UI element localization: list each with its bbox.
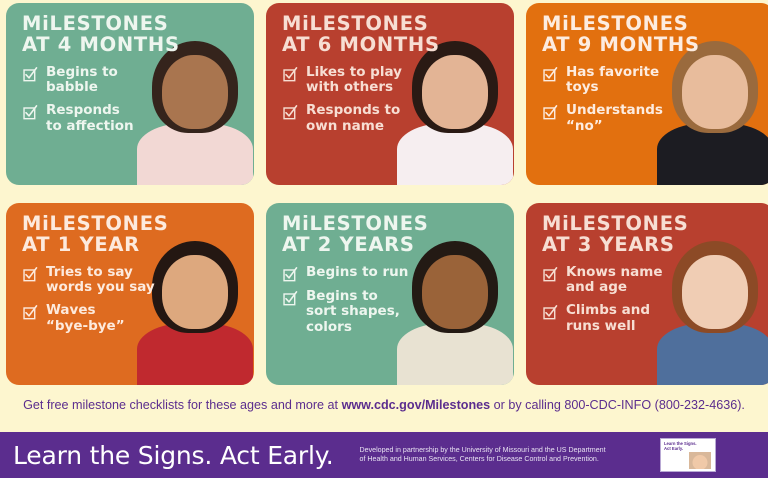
checkbox-checked-icon [543,267,558,282]
milestone-text: Begins to babble [46,65,118,96]
banner-slogan: Learn the Signs. Act Early. [13,441,334,470]
learn-the-signs-banner: Learn the Signs. Act Early. Developed in… [0,432,768,478]
card-title-dotted-i: i [42,12,49,35]
milestone-list-6-months: Likes to play with othersResponds to own… [266,56,514,135]
milestone-item: Responds to own name [283,103,514,134]
milestone-card-grid: MiLESTONESAT 4 MONTHSBegins to babbleRes… [0,3,768,391]
milestone-list-1-year: Tries to say words you sayWaves “bye-bye… [6,256,254,335]
card-title-age-line: AT 1 YEAR [22,233,140,256]
checkbox-checked-icon [543,305,558,320]
card-title-age-line: AT 3 YEARS [542,233,675,256]
card-title-suffix: LESTONES [570,12,689,35]
milestone-item: Begins to run [283,265,514,282]
card-title-prefix: M [22,212,42,235]
milestone-item: Tries to say words you say [23,265,254,296]
card-title-suffix: LESTONES [310,212,429,235]
card-title-dotted-i: i [302,212,309,235]
card-title-dotted-i: i [562,12,569,35]
card-title-dotted-i: i [42,212,49,235]
footer-text-after: or by calling 800-CDC-INFO (800-232-4636… [490,398,745,412]
milestone-item: Knows name and age [543,265,768,296]
cdc-milestones-link[interactable]: www.cdc.gov/Milestones [342,398,491,412]
milestone-text: Knows name and age [566,265,663,296]
card-title-2-years: MiLESTONESAT 2 YEARS [266,203,514,256]
card-title-suffix: LESTONES [310,12,429,35]
milestone-text: Climbs and runs well [566,303,650,334]
checkbox-checked-icon [543,67,558,82]
milestone-text: Tries to say words you say [46,265,155,296]
footer-text-before: Get free milestone checklists for these … [23,398,342,412]
milestone-card-2-years: MiLESTONESAT 2 YEARSBegins to runBegins … [266,203,514,385]
milestone-item: Likes to play with others [283,65,514,96]
milestone-text: Waves “bye-bye” [46,303,125,334]
milestone-card-3-years: MiLESTONESAT 3 YEARSKnows name and ageCl… [526,203,768,385]
card-title-age-line: AT 2 YEARS [282,233,415,256]
milestone-text: Responds to affection [46,103,134,134]
milestone-item: Begins to babble [23,65,254,96]
checkbox-checked-icon [283,291,298,306]
card-title-suffix: LESTONES [570,212,689,235]
card-title-3-years: MiLESTONESAT 3 YEARS [526,203,768,256]
milestone-card-6-months: MiLESTONESAT 6 MONTHSLikes to play with … [266,3,514,185]
card-title-prefix: M [282,12,302,35]
card-title-prefix: M [542,12,562,35]
milestone-text: Has favorite toys [566,65,659,96]
checkbox-checked-icon [283,105,298,120]
card-title-dotted-i: i [302,12,309,35]
milestone-list-4-months: Begins to babbleResponds to affection [6,56,254,135]
card-title-age-line: AT 4 MONTHS [22,33,180,56]
checkbox-checked-icon [23,67,38,82]
program-logo-photo [689,452,711,469]
card-title-prefix: M [542,212,562,235]
cdc-milestones-poster: MiLESTONESAT 4 MONTHSBegins to babbleRes… [0,0,768,478]
milestone-text: Understands “no” [566,103,663,134]
card-title-9-months: MiLESTONESAT 9 MONTHS [526,3,768,56]
milestone-text: Likes to play with others [306,65,402,96]
checkbox-checked-icon [23,105,38,120]
milestone-list-2-years: Begins to runBegins to sort shapes, colo… [266,256,514,336]
card-title-age-line: AT 9 MONTHS [542,33,700,56]
checkbox-checked-icon [543,105,558,120]
milestone-card-9-months: MiLESTONESAT 9 MONTHSHas favorite toysUn… [526,3,768,185]
card-title-prefix: M [22,12,42,35]
milestone-text: Begins to run [306,265,408,281]
milestone-item: Begins to sort shapes, colors [283,289,514,336]
card-title-1-year: MiLESTONESAT 1 YEAR [6,203,254,256]
milestone-item: Understands “no” [543,103,768,134]
milestone-item: Climbs and runs well [543,303,768,334]
card-title-suffix: LESTONES [50,212,169,235]
program-logo: Learn the Signs. Act Early. [660,438,716,472]
checkbox-checked-icon [283,267,298,282]
milestone-card-4-months: MiLESTONESAT 4 MONTHSBegins to babbleRes… [6,3,254,185]
milestone-list-9-months: Has favorite toysUnderstands “no” [526,56,768,135]
milestone-item: Waves “bye-bye” [23,303,254,334]
milestone-text: Responds to own name [306,103,400,134]
card-title-prefix: M [282,212,302,235]
program-logo-text: Learn the Signs. Act Early. [664,441,712,452]
milestone-card-1-year: MiLESTONESAT 1 YEARTries to say words yo… [6,203,254,385]
banner-credit: Developed in partnership by the Universi… [360,446,606,465]
card-title-age-line: AT 6 MONTHS [282,33,440,56]
card-title-6-months: MiLESTONESAT 6 MONTHS [266,3,514,56]
checkbox-checked-icon [23,267,38,282]
card-title-4-months: MiLESTONESAT 4 MONTHS [6,3,254,56]
milestone-list-3-years: Knows name and ageClimbs and runs well [526,256,768,335]
checkbox-checked-icon [283,67,298,82]
footer-note: Get free milestone checklists for these … [0,398,768,413]
checkbox-checked-icon [23,305,38,320]
milestone-item: Responds to affection [23,103,254,134]
milestone-text: Begins to sort shapes, colors [306,289,400,336]
milestone-item: Has favorite toys [543,65,768,96]
card-title-dotted-i: i [562,212,569,235]
card-title-suffix: LESTONES [50,12,169,35]
